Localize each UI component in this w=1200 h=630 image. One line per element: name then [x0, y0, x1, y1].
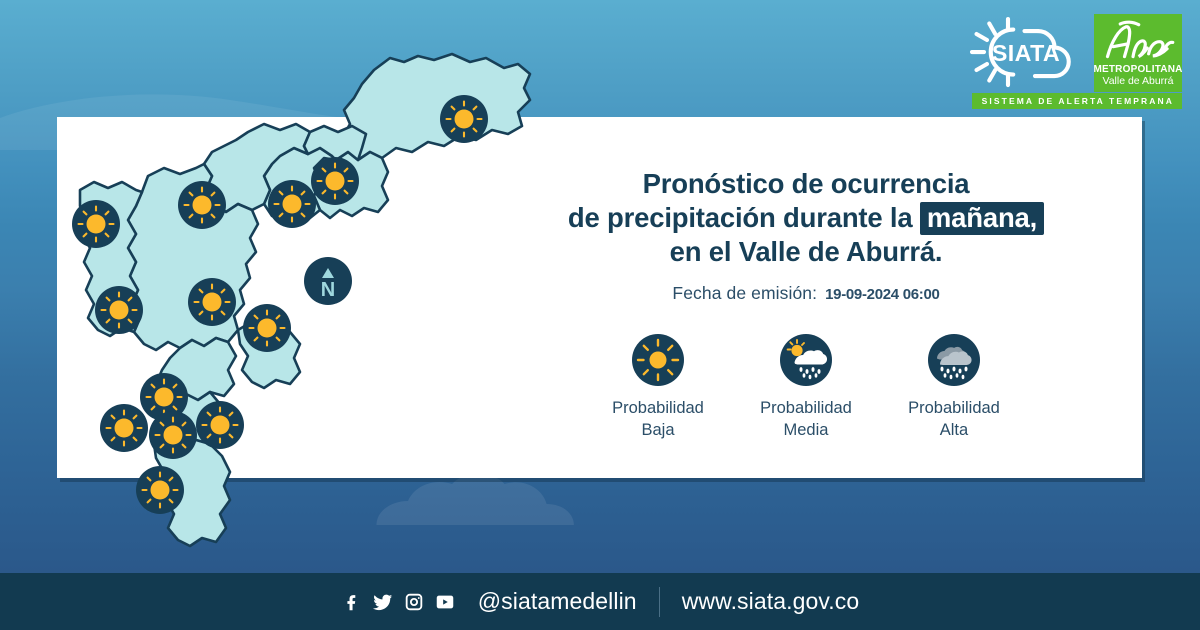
cloud-rain-icon — [928, 334, 980, 386]
page-title: Pronóstico de ocurrencia de precipitació… — [568, 167, 1044, 269]
instagram-icon[interactable] — [403, 591, 425, 613]
legend-label-baja-line1: Probabilidad — [612, 397, 704, 419]
legend-label-alta: Probabilidad Alta — [908, 397, 1000, 441]
legend-item-baja: Probabilidad Baja — [584, 334, 732, 441]
siata-logo-text: SIATA — [992, 40, 1060, 66]
twitter-icon[interactable] — [372, 591, 394, 613]
headline-line3: en el Valle de Aburrá. — [568, 235, 1044, 269]
legend-item-media: Probabilidad Media — [732, 334, 880, 441]
legend-label-media-line1: Probabilidad — [760, 397, 852, 419]
footer-divider — [659, 587, 660, 617]
headline-highlight: mañana, — [920, 202, 1044, 235]
legend-label-media-line2: Media — [760, 419, 852, 441]
area-script-icon — [1099, 18, 1177, 64]
tagline-banner: SISTEMA DE ALERTA TEMPRANA — [972, 93, 1182, 109]
social-links[interactable] — [341, 591, 456, 613]
legend-label-baja-line2: Baja — [612, 419, 704, 441]
forecast-content: Pronóstico de ocurrencia de precipitació… — [470, 117, 1142, 478]
legend-label-alta-line2: Alta — [908, 419, 1000, 441]
issue-date-value: 19-09-2024 06:00 — [825, 286, 939, 303]
headline-line1: Pronóstico de ocurrencia — [568, 167, 1044, 201]
social-handle[interactable]: @siatamedellin — [478, 588, 637, 615]
siata-logo: SIATA — [966, 14, 1086, 90]
brand-logos: SIATA METROPOLITANA Valle de Aburrá — [966, 14, 1182, 92]
footer-bar: @siatamedellin www.siata.gov.co — [0, 573, 1200, 630]
legend-item-alta: Probabilidad Alta — [880, 334, 1028, 441]
headline-line2: de precipitación durante la mañana, — [568, 201, 1044, 235]
headline-line2-text: de precipitación durante la — [568, 202, 913, 233]
sun-cloud-rain-icon — [780, 334, 832, 386]
facebook-icon[interactable] — [341, 591, 363, 613]
probability-legend: Probabilidad Baja — [546, 334, 1066, 441]
legend-label-baja: Probabilidad Baja — [612, 397, 704, 441]
legend-label-media: Probabilidad Media — [760, 397, 852, 441]
area-logo-line2: Valle de Aburrá — [1102, 75, 1173, 87]
issue-date-row: Fecha de emisión: 19-09-2024 06:00 — [672, 283, 939, 304]
legend-label-alta-line1: Probabilidad — [908, 397, 1000, 419]
sun-icon — [632, 334, 684, 386]
issue-date-label: Fecha de emisión: — [672, 283, 817, 304]
youtube-icon[interactable] — [434, 591, 456, 613]
website-url[interactable]: www.siata.gov.co — [682, 588, 860, 615]
area-logo-line1: METROPOLITANA — [1093, 64, 1182, 75]
area-metropolitana-logo: METROPOLITANA Valle de Aburrá — [1094, 14, 1182, 92]
